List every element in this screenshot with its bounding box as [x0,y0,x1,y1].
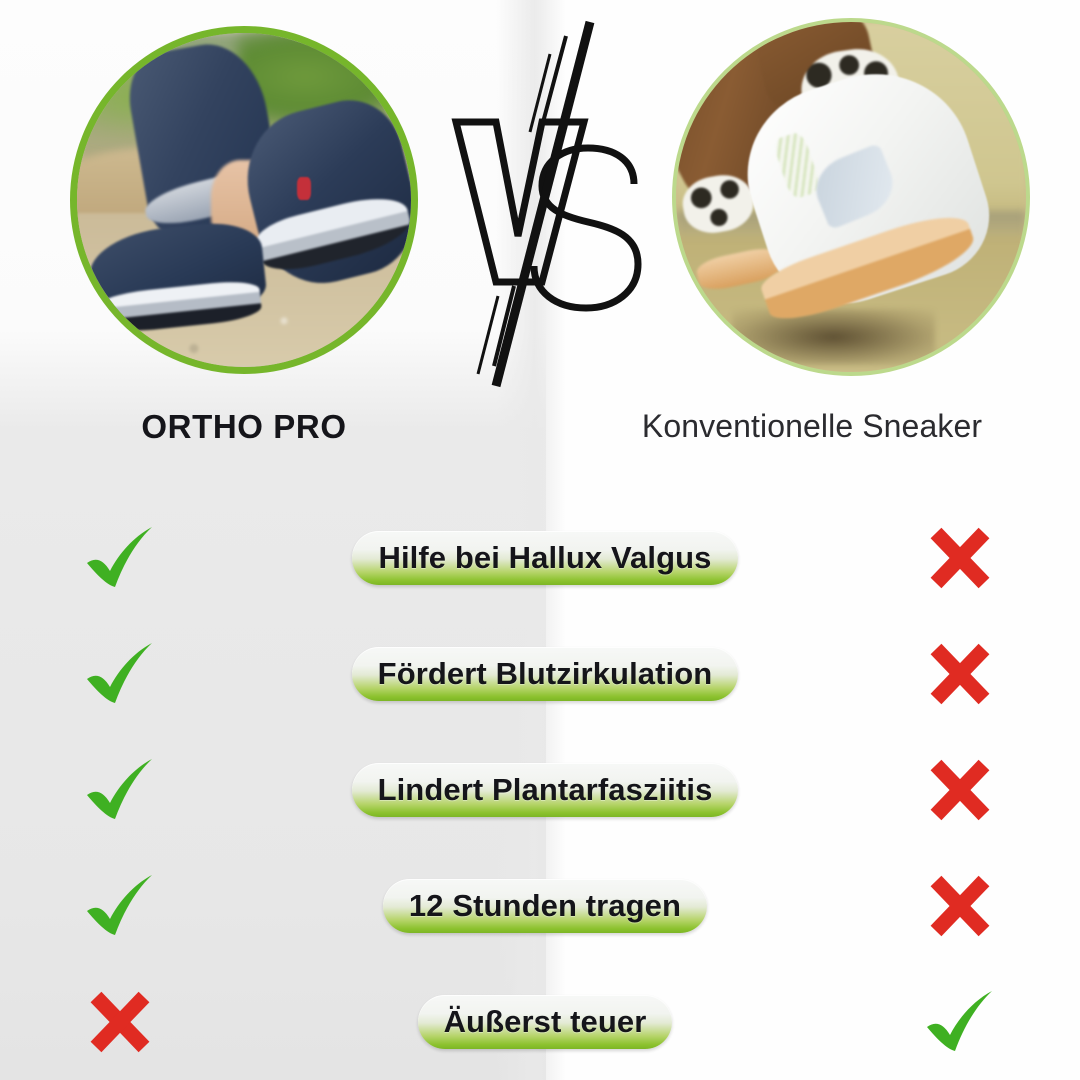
feature-pill-cell: Hilfe bei Hallux Valgus [268,531,822,585]
feature-pill: Fördert Blutzirkulation [352,647,739,701]
cross-icon [0,990,268,1054]
ortho-pro-shoe-photo [77,33,411,367]
ortho-pro-image-circle [70,26,418,374]
feature-pill: Lindert Plantarfasziitis [352,763,739,817]
conventional-sneaker-image-circle [672,18,1030,376]
conventional-sneaker-photo [676,22,1026,372]
cross-icon [822,642,1080,706]
feature-pill-cell: Fördert Blutzirkulation [268,647,822,701]
check-icon [0,757,268,823]
feature-pill: Äußerst teuer [418,995,673,1049]
comparison-row: Fördert Blutzirkulation [0,616,1080,732]
feature-pill-cell: 12 Stunden tragen [268,879,822,933]
vs-badge-icon [438,14,678,394]
cross-icon [822,874,1080,938]
check-icon [0,873,268,939]
check-icon [0,641,268,707]
page-title-left: ORTHO PRO [70,408,418,446]
comparison-row: 12 Stunden tragen [0,848,1080,964]
cross-icon [822,758,1080,822]
comparison-row: Hilfe bei Hallux Valgus [0,500,1080,616]
cross-icon [822,526,1080,590]
photo-shoe-shadow [732,309,935,365]
page-title-right: Konventionelle Sneaker [552,408,1072,445]
comparison-row: Lindert Plantarfasziitis [0,732,1080,848]
comparison-infographic: ORTHO PRO Konventionelle Sneaker Hilfe b… [0,0,1080,1080]
comparison-rows: Hilfe bei Hallux ValgusFördert Blutzirku… [0,500,1080,1080]
feature-pill-cell: Lindert Plantarfasziitis [268,763,822,817]
check-icon [0,525,268,591]
feature-pill-cell: Äußerst teuer [268,995,822,1049]
feature-pill: Hilfe bei Hallux Valgus [352,531,737,585]
comparison-row: Äußerst teuer [0,964,1080,1080]
feature-pill: 12 Stunden tragen [383,879,707,933]
photo-shoe-logo-tab [297,177,310,200]
check-icon [822,989,1080,1055]
